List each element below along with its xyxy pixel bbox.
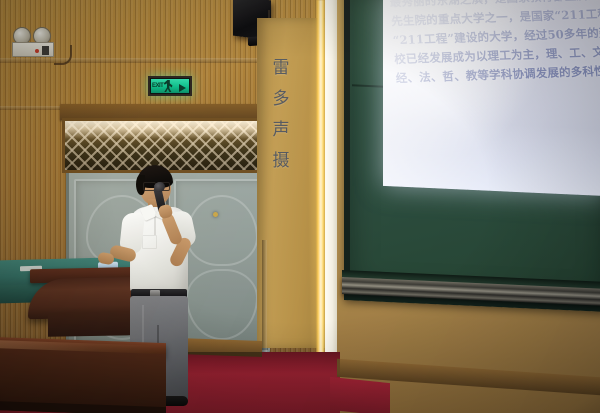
calligraphy-characters: 雷 多 声 摄 — [268, 60, 294, 170]
exit-sign: EXIT — [148, 76, 192, 96]
door-knob[interactable] — [213, 212, 218, 217]
vertical-light-strip — [316, 0, 325, 372]
calligraphy-char-2: 多 — [273, 91, 290, 108]
wall-corner-edge — [262, 240, 267, 358]
arrow-right-icon — [179, 84, 186, 92]
lattice-shading — [65, 121, 270, 170]
calligraphy-char-4: 摄 — [273, 153, 290, 170]
emergency-light — [12, 27, 56, 57]
lecture-hall-photo: EXIT 雷 多 声 摄 — [0, 0, 600, 413]
red-carpet-right — [330, 377, 390, 413]
slide-text-block: 最秀丽的东湖之滨，是国家教育部直属的 先生院的重点大学之一，是国家“211工程”… — [389, 0, 600, 88]
wall-light-column — [325, 0, 337, 370]
emergency-light-body — [12, 42, 54, 57]
calligraphy-char-3: 声 — [273, 122, 290, 139]
calligraphy-char-1: 雷 — [273, 60, 290, 77]
shirt-placket — [154, 215, 156, 235]
screen-lower-fade — [383, 119, 600, 196]
emergency-light-indicator — [35, 49, 39, 53]
shirt-pocket — [142, 235, 157, 249]
emergency-light-switch — [42, 46, 49, 55]
exit-sign-label: EXIT — [152, 83, 163, 89]
projection-screen: 最秀丽的东湖之滨，是国家教育部直属的 先生院的重点大学之一，是国家“211工程”… — [383, 0, 600, 196]
